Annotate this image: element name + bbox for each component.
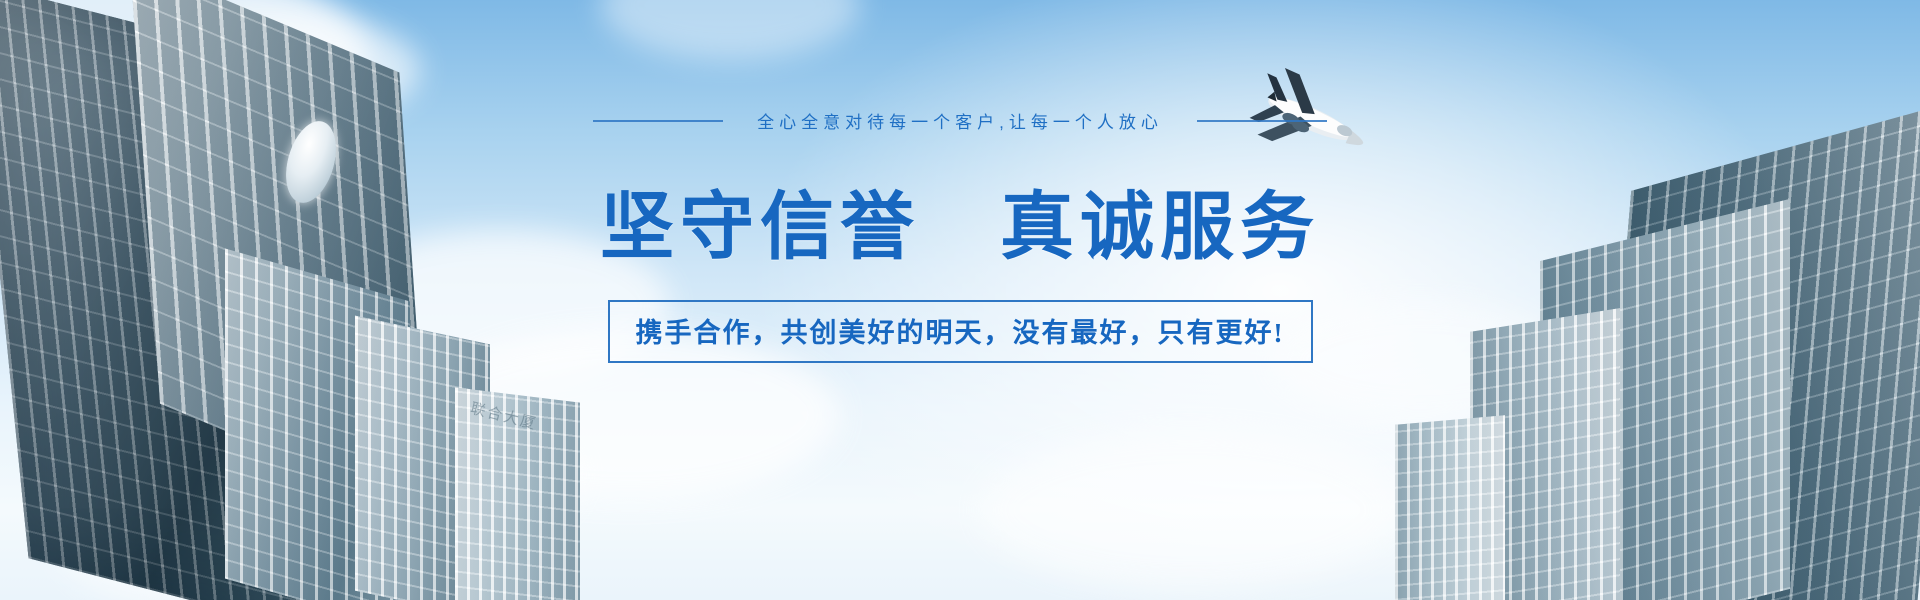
tagline-row: 全心全意对待每一个客户,让每一个人放心 (593, 108, 1327, 133)
banner-content: 全心全意对待每一个客户,让每一个人放心 坚守信誉 真诚服务 携手合作，共创美好的… (0, 0, 1920, 600)
banner-headline: 坚守信誉 真诚服务 (600, 167, 1320, 274)
banner-subtitle-box: 携手合作，共创美好的明天，没有最好，只有更好! (608, 300, 1313, 363)
banner-tagline: 全心全意对待每一个客户,让每一个人放心 (757, 108, 1163, 133)
banner-subtitle: 携手合作，共创美好的明天，没有最好，只有更好! (636, 311, 1285, 350)
decorative-rule-right-icon (1197, 120, 1327, 122)
hero-banner: 联合大厦 全心全意对待每一个客户,让每一个人放心 (0, 0, 1920, 600)
decorative-rule-left-icon (593, 120, 723, 122)
